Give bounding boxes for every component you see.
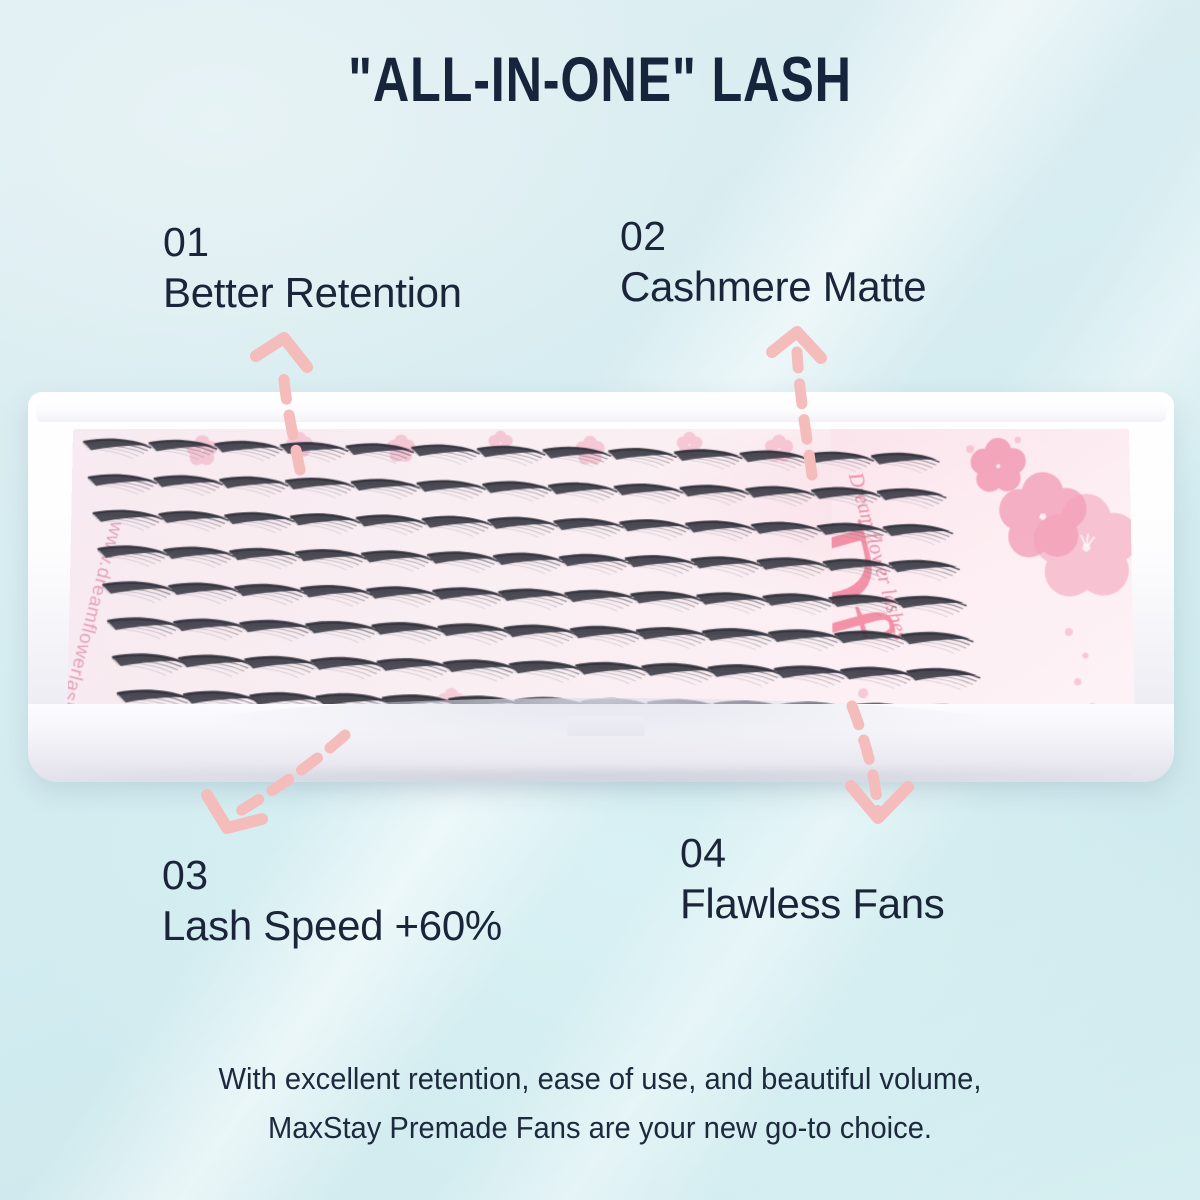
caption-line-2: MaxStay Premade Fans are your new go-to …: [36, 1104, 1164, 1153]
feature-02: 02 Cashmere Matte: [620, 216, 926, 308]
lip-notch: [567, 716, 645, 736]
caption-line-1: With excellent retention, ease of use, a…: [36, 1055, 1164, 1104]
page-title: "ALL-IN-ONE" LASH: [120, 44, 1080, 116]
footer-caption: With excellent retention, ease of use, a…: [36, 1055, 1164, 1153]
feature-03: 03 Lash Speed +60%: [162, 855, 502, 947]
arrow-head-01: [256, 338, 307, 367]
feature-02-label: Cashmere Matte: [620, 266, 926, 308]
tray-top-rim: [36, 396, 1166, 422]
arrow-head-02: [772, 332, 821, 358]
tray-inner-cavity: Dream flower lashes Df www.dreamflowerla…: [67, 429, 1135, 735]
feature-04-label: Flawless Fans: [680, 883, 945, 925]
feature-01-label: Better Retention: [163, 272, 462, 314]
feature-02-number: 02: [620, 216, 926, 257]
feature-04-number: 04: [680, 833, 945, 874]
feature-01: 01 Better Retention: [163, 222, 462, 314]
tray-drop-shadow: [66, 770, 1136, 796]
poster-canvas: "ALL-IN-ONE" LASH: [0, 0, 1200, 1200]
feature-03-number: 03: [162, 855, 502, 896]
product-lash-tray: Dream flower lashes Df www.dreamflowerla…: [28, 392, 1174, 782]
feature-03-label: Lash Speed +60%: [162, 905, 502, 947]
feature-04: 04 Flawless Fans: [680, 833, 945, 925]
lash-fans-layer: [67, 429, 1135, 735]
feature-01-number: 01: [163, 222, 462, 263]
arrow-head-03: [207, 795, 262, 828]
